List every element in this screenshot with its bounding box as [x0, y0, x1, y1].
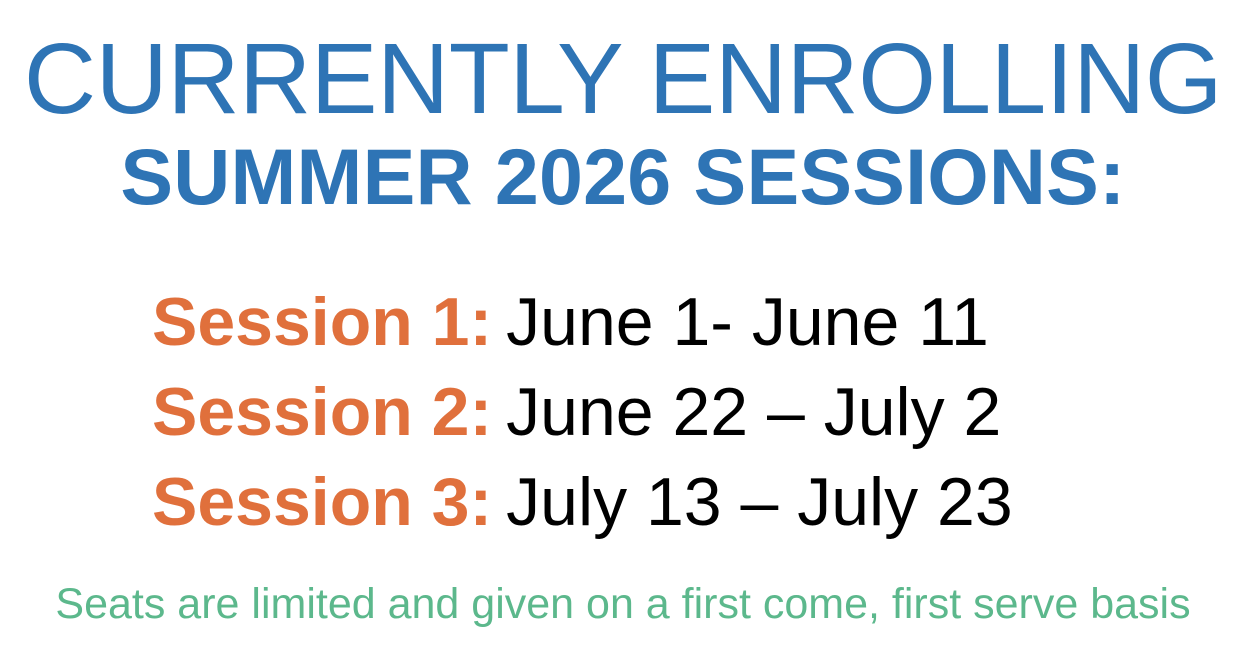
enrollment-announcement-poster: CURRENTLY ENROLLING SUMMER 2026 SESSIONS… [0, 0, 1246, 656]
session-row-1: Session 1:June 1- June 11 [152, 277, 1152, 367]
sessions-list: Session 1:June 1- June 11 Session 2:June… [152, 277, 1152, 547]
session-2-dates: June 22 – July 2 [506, 374, 1001, 450]
headline-line-2: SUMMER 2026 SESSIONS: [0, 134, 1246, 220]
session-3-dates: July 13 – July 23 [506, 464, 1013, 540]
session-row-3: Session 3:July 13 – July 23 [152, 457, 1152, 547]
session-3-label: Session 3: [152, 464, 492, 540]
session-row-2: Session 2:June 22 – July 2 [152, 367, 1152, 457]
session-2-label: Session 2: [152, 374, 492, 450]
headline-block: CURRENTLY ENROLLING SUMMER 2026 SESSIONS… [0, 26, 1246, 220]
headline-line-1: CURRENTLY ENROLLING [0, 26, 1246, 132]
session-1-dates: June 1- June 11 [506, 284, 989, 360]
availability-note: Seats are limited and given on a first c… [0, 578, 1246, 630]
session-1-label: Session 1: [152, 284, 492, 360]
